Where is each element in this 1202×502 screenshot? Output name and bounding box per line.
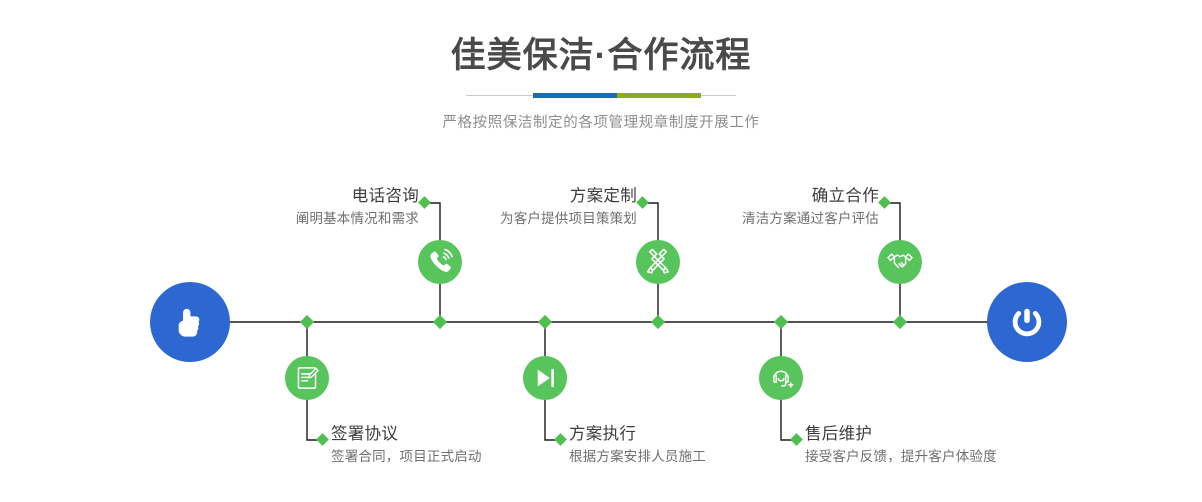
label-diamonds (316, 196, 891, 446)
end-node[interactable] (987, 282, 1067, 362)
step-label-step-6: 售后维护 接受客户反馈，提升客户体验度 (805, 424, 997, 466)
step-icon-step-1[interactable] (418, 240, 462, 284)
play-forward-icon (532, 365, 558, 391)
start-node[interactable] (150, 282, 230, 362)
step-icon-step-5[interactable] (878, 240, 922, 284)
handshake-icon (886, 248, 914, 276)
step-desc-step-4: 根据方案安排人员施工 (569, 444, 706, 466)
step-title-step-5: 确立合作 (742, 186, 879, 206)
step-label-step-1: 电话咨询 阐明基本情况和需求 (296, 186, 419, 228)
pencil-ruler-icon (644, 248, 672, 276)
step-title-step-2: 签署协议 (331, 424, 482, 444)
step-title-step-1: 电话咨询 (296, 186, 419, 206)
step-desc-step-6: 接受客户反馈，提升客户体验度 (805, 444, 997, 466)
infographic-canvas: 佳美保洁·合作流程 严格按照保洁制定的各项管理规章制度开展工作 (0, 0, 1202, 502)
headset-support-icon (768, 365, 795, 392)
step-icon-step-6[interactable] (759, 356, 803, 400)
power-icon (1005, 300, 1049, 344)
step-icon-step-3[interactable] (636, 240, 680, 284)
pointing-hand-icon (168, 300, 212, 344)
process-flow-diagram: 电话咨询 阐明基本情况和需求 方案定制 为客户提供项目策策划 确立合作 清洁方案… (0, 0, 1202, 502)
step-label-step-5: 确立合作 清洁方案通过客户评估 (742, 186, 879, 228)
step-desc-step-1: 阐明基本情况和需求 (296, 206, 419, 228)
step-desc-step-2: 签署合同，项目正式启动 (331, 444, 482, 466)
step-title-step-3: 方案定制 (500, 186, 637, 206)
step-title-step-4: 方案执行 (569, 424, 706, 444)
step-label-step-2: 签署协议 签署合同，项目正式启动 (331, 424, 482, 466)
document-edit-icon (294, 365, 320, 391)
step-icon-step-4[interactable] (523, 356, 567, 400)
phone-ringing-icon (426, 248, 454, 276)
step-title-step-6: 售后维护 (805, 424, 997, 444)
step-label-step-3: 方案定制 为客户提供项目策策划 (500, 186, 637, 228)
step-icon-step-2[interactable] (285, 356, 329, 400)
step-desc-step-5: 清洁方案通过客户评估 (742, 206, 879, 228)
step-label-step-4: 方案执行 根据方案安排人员施工 (569, 424, 706, 466)
step-desc-step-3: 为客户提供项目策策划 (500, 206, 637, 228)
